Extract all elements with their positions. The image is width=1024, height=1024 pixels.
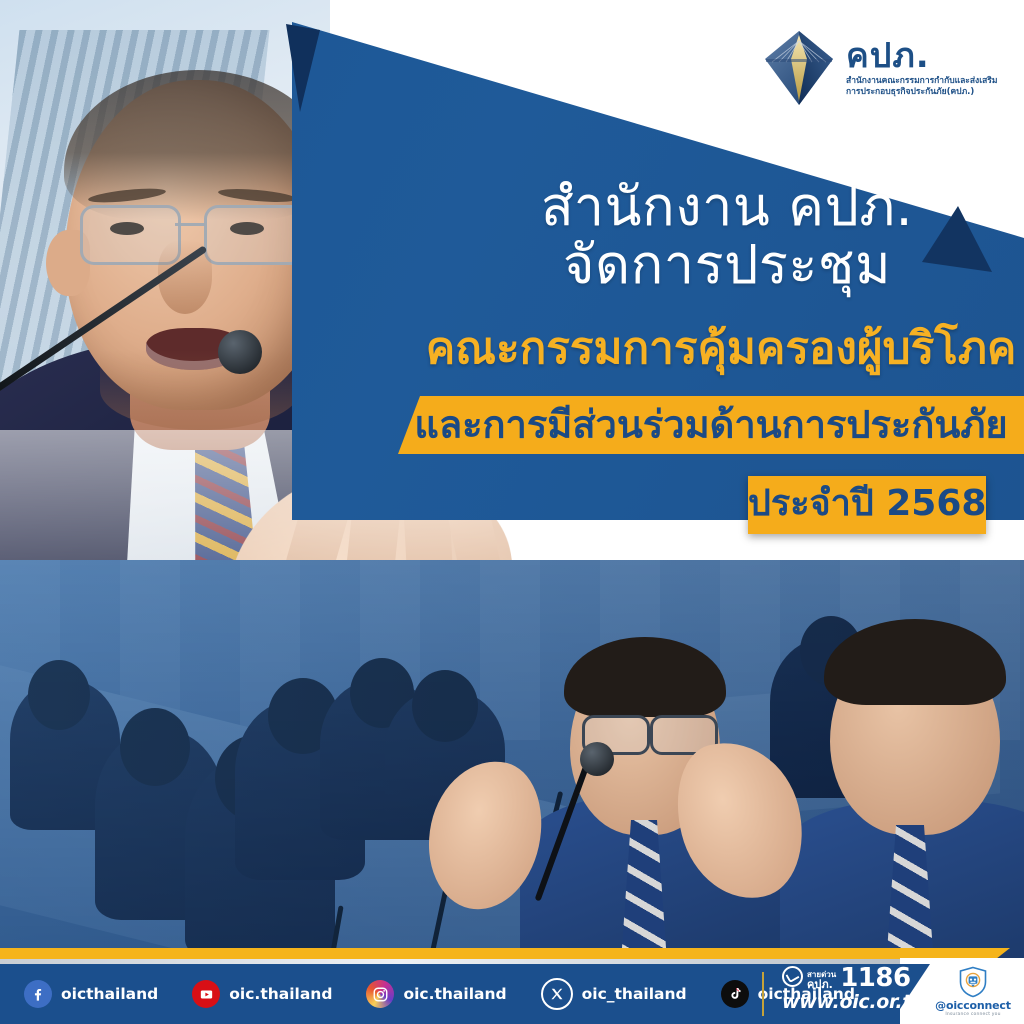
hotline-block[interactable]: สายด่วน คปภ. 1186 www.oic.or.th <box>782 966 922 1013</box>
yellow-highlight-band: และการมีส่วนร่วมด้านการประกันภัย <box>398 396 1024 454</box>
social-link-x[interactable]: oic_thailand <box>541 978 687 1010</box>
microphone-head <box>218 330 262 374</box>
speaker-chin-shadow <box>100 350 300 430</box>
youtube-icon <box>192 980 220 1008</box>
year-badge: ประจำปี 2568 <box>748 476 986 534</box>
instagram-icon <box>366 980 394 1008</box>
logo-subtitle-line2: การประกอบธุรกิจประกันภัย(คปภ.) <box>846 87 997 98</box>
poster-canvas: คปภ. สำนักงานคณะกรรมการกำกับและส่งเสริม … <box>0 0 1024 1024</box>
eyeglass-lens-right <box>204 205 305 265</box>
subheadline: คณะกรรมการคุ้มครองผู้บริโภค <box>418 325 1024 373</box>
footer-divider <box>762 972 764 1016</box>
social-link-instagram[interactable]: oic.thailand <box>366 980 506 1008</box>
footer-yellow-rule <box>0 948 1010 959</box>
social-links: oicthailand oic.thailand oic.thailand <box>24 964 889 1024</box>
youtube-handle: oic.thailand <box>229 985 332 1003</box>
x-twitter-icon <box>541 978 573 1010</box>
logo-text-block: คปภ. สำนักงานคณะกรรมการกำกับและส่งเสริม … <box>846 39 997 97</box>
x-handle: oic_thailand <box>582 985 687 1003</box>
speaker-hair <box>564 637 726 717</box>
logo-subtitle: สำนักงานคณะกรรมการกำกับและส่งเสริม การปร… <box>846 76 997 97</box>
hotline-number: 1186 <box>840 967 910 990</box>
social-link-youtube[interactable]: oic.thailand <box>192 980 332 1008</box>
phone-icon <box>782 966 803 987</box>
organization-logo: คปภ. สำนักงานคณะกรรมการกำกับและส่งเสริม … <box>762 28 1024 108</box>
facebook-handle: oicthailand <box>61 985 158 1003</box>
hotline-label-line2: คปภ. <box>807 979 836 990</box>
oicconnect-badge[interactable]: @oicconnect Insurance connect you <box>928 966 1018 1017</box>
social-link-facebook[interactable]: oicthailand <box>24 980 158 1008</box>
instagram-handle: oic.thailand <box>403 985 506 1003</box>
yellow-band-text: และการมีส่วนร่วมด้านการประกันภัย <box>398 393 1024 454</box>
facebook-icon <box>24 980 52 1008</box>
year-badge-text: ประจำปี 2568 <box>748 474 986 531</box>
tiktok-icon <box>721 980 749 1008</box>
headline-line-2: จัดการประชุม <box>430 236 1024 294</box>
speaker-hair <box>824 619 1006 705</box>
microphone-head <box>580 742 614 776</box>
hotline-label: สายด่วน คปภ. <box>807 971 836 990</box>
logo-abbreviation: คปภ. <box>846 39 997 73</box>
kpp-diamond-logo-icon <box>762 29 836 107</box>
hotline-row: สายด่วน คปภ. 1186 <box>782 966 922 990</box>
website-url[interactable]: www.oic.or.th <box>782 991 922 1013</box>
oicconnect-name: @oicconnect <box>935 999 1011 1012</box>
headline-line-1: สำนักงาน คปภ. <box>541 175 913 238</box>
logo-subtitle-line1: สำนักงานคณะกรรมการกำกับและส่งเสริม <box>846 76 997 87</box>
headline: สำนักงาน คปภ. จัดการประชุม <box>430 178 1024 295</box>
oicconnect-tagline: Insurance connect you <box>945 1012 1000 1017</box>
eyeglass-bridge <box>175 223 205 226</box>
speaker-portrait-right <box>790 585 1024 965</box>
oicconnect-shield-icon <box>958 966 988 998</box>
